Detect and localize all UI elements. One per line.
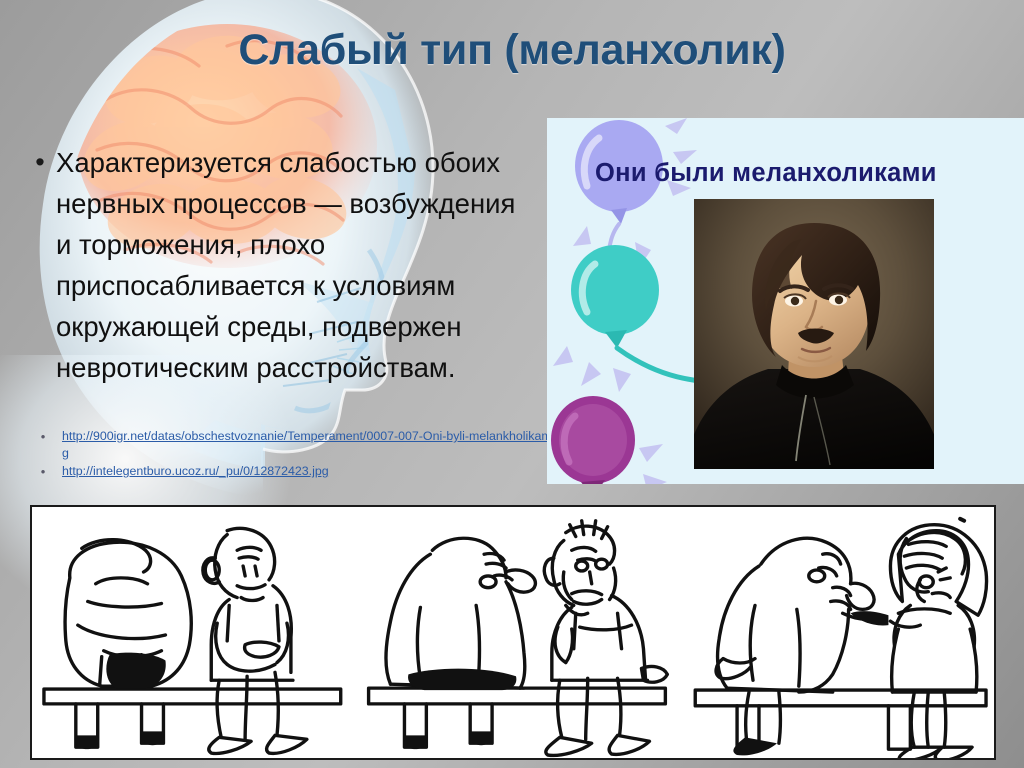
bullet-item-main: • Характеризуется слабостью обоих нервны… (24, 142, 554, 388)
bullet-marker-icon: • (24, 428, 62, 445)
portrait-gogol (694, 199, 934, 469)
list-item: • http://900igr.net/datas/obschestvoznan… (24, 428, 584, 461)
source-link-2[interactable]: http://intelegentburo.ucoz.ru/_pu/0/1287… (62, 463, 572, 480)
source-link-1[interactable]: http://900igr.net/datas/obschestvoznanie… (62, 428, 572, 461)
balloon-purple (551, 396, 667, 484)
body-bullet-list: • Характеризуется слабостью обоих нервны… (24, 142, 554, 388)
bullet-marker-icon: • (24, 142, 56, 183)
body-paragraph: Характеризуется слабостью обоих нервных … (56, 142, 531, 388)
list-item: • http://intelegentburo.ucoz.ru/_pu/0/12… (24, 463, 584, 480)
bullet-marker-icon: • (24, 463, 62, 480)
source-link-list: • http://900igr.net/datas/obschestvoznan… (24, 428, 584, 482)
melancholics-image-panel: Они были меланхоликами (547, 118, 1024, 484)
slide-title: Слабый тип (меланхолик) (60, 26, 964, 75)
cartoon-illustration-panel (30, 505, 996, 760)
panel-caption: Они были меланхоликами (595, 159, 937, 188)
slide-canvas: Слабый тип (меланхолик) • Характеризуетс… (0, 0, 1024, 768)
